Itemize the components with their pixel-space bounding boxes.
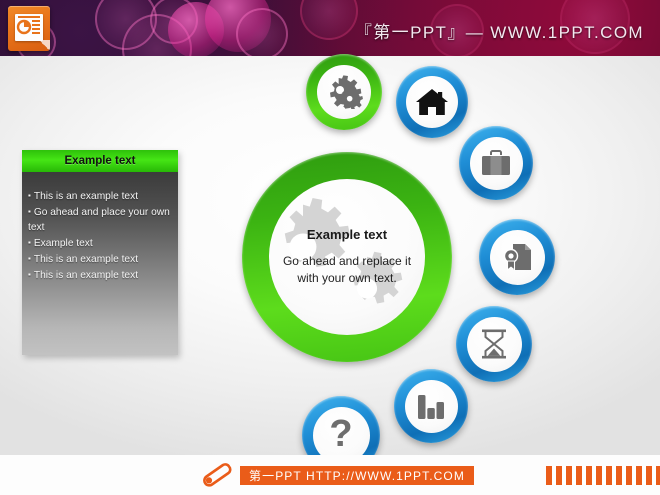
node-gears-inner: [317, 65, 371, 119]
bokeh-circle: [95, 0, 157, 50]
certificate-icon: [501, 241, 533, 273]
node-hourglass[interactable]: [456, 306, 532, 382]
example-textbox: Example text This is an example text Go …: [22, 150, 178, 355]
logo-page-fold: [39, 40, 50, 51]
node-bar-chart-inner: [405, 380, 458, 433]
node-home[interactable]: [396, 66, 468, 138]
node-bar-chart[interactable]: [394, 369, 468, 443]
center-ring-node[interactable]: Example text Go ahead and replace it wit…: [242, 152, 452, 362]
footer-bar-area: 第一PPT HTTP://WWW.1PPT.COM: [0, 455, 660, 495]
list-item: This is an example text: [28, 251, 172, 267]
node-certificate-inner: [490, 230, 545, 285]
textbox-title: Example text: [22, 150, 178, 172]
textbox-bullet-list: This is an example text Go ahead and pla…: [28, 188, 172, 283]
footer-url-text: 第一PPT HTTP://WWW.1PPT.COM: [240, 466, 474, 485]
center-ring-inner: Example text Go ahead and replace it wit…: [269, 179, 425, 335]
bokeh-circle: [205, 0, 271, 52]
list-item: This is an example text: [28, 188, 172, 204]
briefcase-icon: [480, 149, 512, 177]
bokeh-circle: [122, 14, 192, 56]
list-item: This is an example text: [28, 267, 172, 283]
pen-icon: [200, 463, 232, 489]
list-item: Example text: [28, 235, 172, 251]
bokeh-circle: [150, 0, 198, 44]
bar-chart-icon: [416, 391, 446, 421]
footer-stripes: [546, 466, 660, 485]
center-body-text: Go ahead and replace it with your own te…: [281, 253, 413, 287]
center-title: Example text: [281, 227, 413, 242]
gears-icon: [324, 75, 364, 109]
slide-canvas: 『第一PPT』— WWW.1PPT.COM Example text This …: [0, 0, 660, 495]
node-briefcase-inner: [470, 137, 523, 190]
node-hourglass-inner: [467, 317, 522, 372]
header-banner: 『第一PPT』— WWW.1PPT.COM: [0, 0, 660, 56]
list-item: Go ahead and place your own text: [28, 204, 172, 235]
hourglass-icon: [480, 328, 508, 360]
logo-sheet: [15, 14, 43, 41]
node-briefcase[interactable]: [459, 126, 533, 200]
home-icon: [415, 87, 449, 117]
powerpoint-logo-icon: [8, 6, 50, 51]
textbox-body: This is an example text Go ahead and pla…: [22, 172, 178, 355]
bokeh-circle: [168, 2, 224, 56]
header-brand-text: 『第一PPT』— WWW.1PPT.COM: [355, 18, 644, 43]
node-home-inner: [406, 76, 458, 128]
node-certificate[interactable]: [479, 219, 555, 295]
bokeh-circle: [236, 8, 288, 56]
bokeh-circle: [300, 0, 358, 40]
logo-chart-glyph: [15, 14, 43, 41]
node-gears[interactable]: [306, 54, 382, 130]
question-mark-icon: ?: [329, 415, 352, 453]
